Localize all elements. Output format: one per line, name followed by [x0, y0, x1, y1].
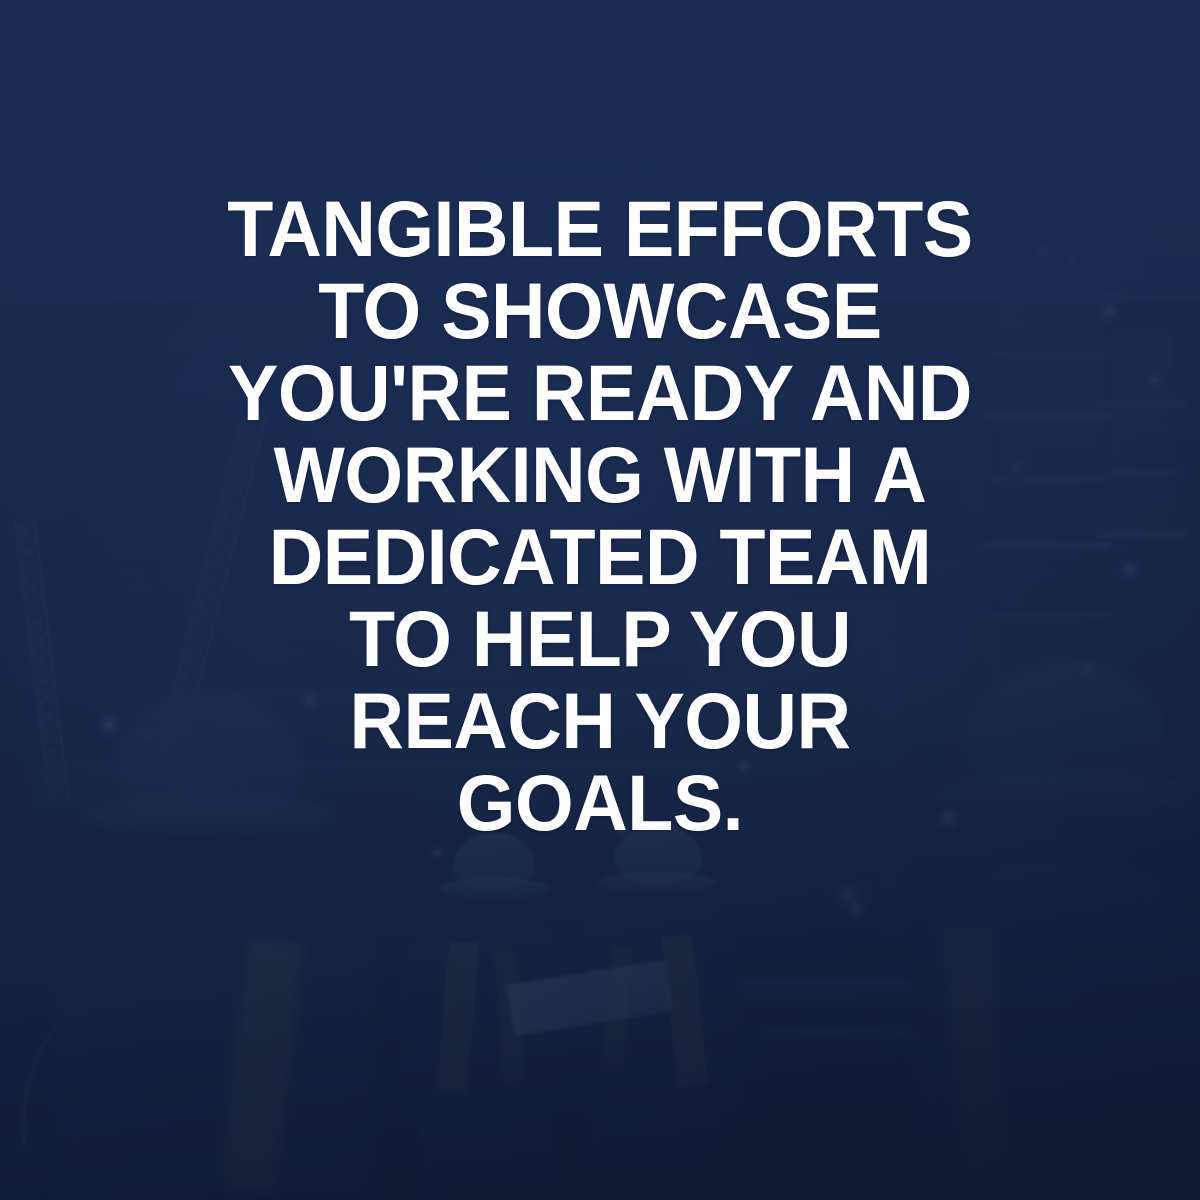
quote-line: TANGIBLE EFFORTS [119, 188, 1082, 270]
quote-text-block: TANGIBLE EFFORTS TO SHOWCASE YOU'RE READ… [0, 188, 1200, 844]
quote-line: REACH YOUR [119, 680, 1082, 762]
quote-card: TANGIBLE EFFORTS TO SHOWCASE YOU'RE READ… [0, 0, 1200, 1200]
quote-line: GOALS. [119, 762, 1082, 844]
quote-line: DEDICATED TEAM [119, 516, 1082, 598]
quote-line: TO SHOWCASE [119, 270, 1082, 352]
quote-line: WORKING WITH A [119, 434, 1082, 516]
quote-line: YOU'RE READY AND [119, 352, 1082, 434]
quote-line: TO HELP YOU [119, 598, 1082, 680]
